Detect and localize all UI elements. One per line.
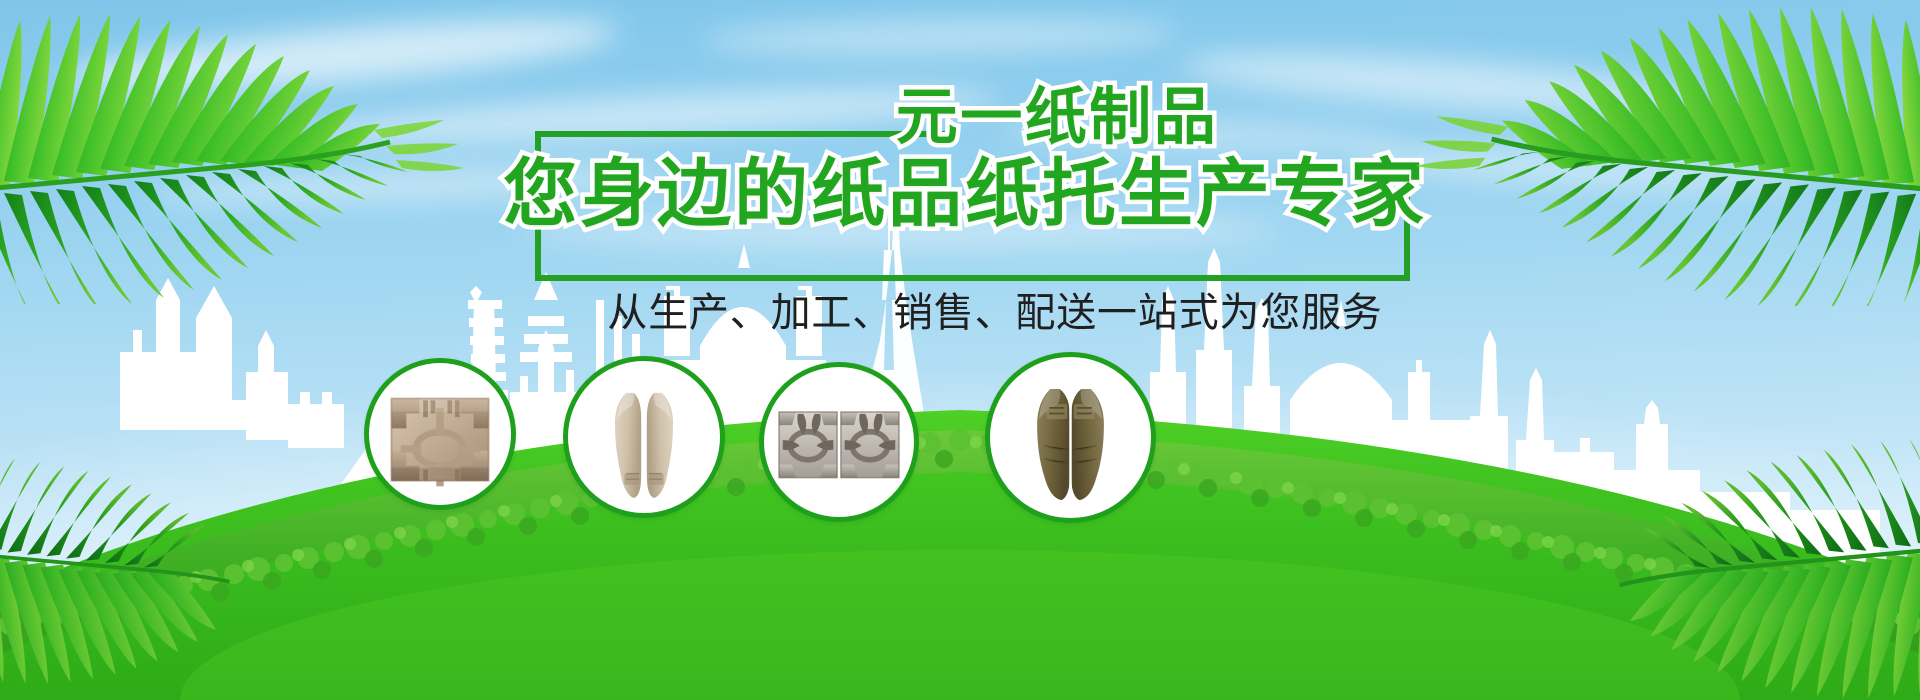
product-circle-3[interactable] (759, 362, 919, 522)
paper-pulp-tray-pair (764, 367, 914, 517)
paper-pulp-shoe-inserts-dark (990, 357, 1151, 518)
palm-leaf-icon (1330, 0, 1920, 306)
product-circle-2[interactable] (563, 356, 725, 518)
product-circle-1[interactable] (364, 358, 516, 510)
headline-frame (535, 131, 1410, 281)
palm-leaf-icon (0, 0, 526, 304)
frame-left-rule (535, 131, 541, 281)
paper-pulp-shoe-inserts-light (568, 361, 720, 513)
palm-leaf-icon (0, 440, 360, 700)
hero-banner: 元一纸制品 您身边的纸品纸托生产专家 从生产、加工、销售、配送一站式为您服务 (0, 0, 1920, 700)
paper-pulp-tray-square (369, 363, 511, 505)
product-circle-4[interactable] (985, 352, 1156, 523)
palm-leaf-icon (1486, 436, 1920, 700)
frame-bottom-rule (535, 275, 1410, 281)
frame-top-rule (535, 131, 945, 137)
